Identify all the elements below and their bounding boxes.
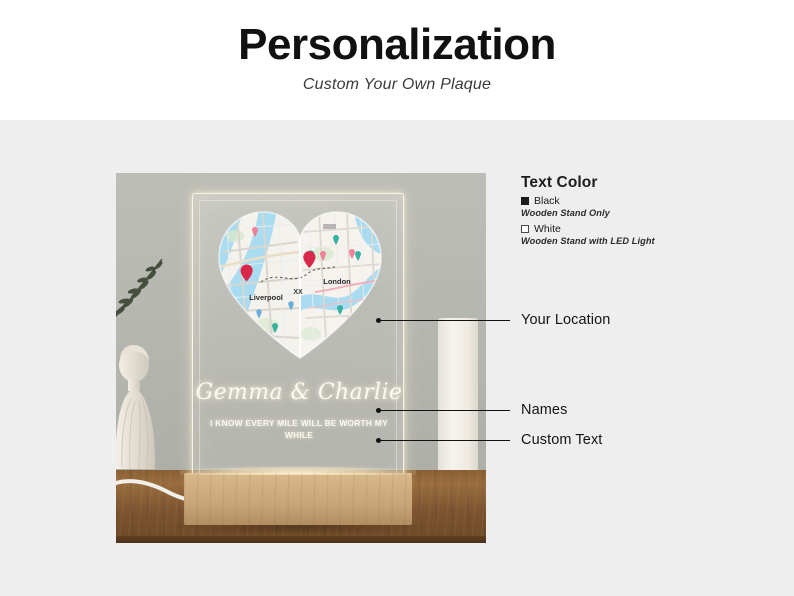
plaque-names-text: Gemma & Charlie [193,380,405,405]
option-note-white: Wooden Stand with LED Light [521,236,783,246]
plant-decoration [116,251,172,323]
svg-text:London: London [323,277,351,286]
option-label-black: Black [534,195,560,207]
checkbox-white-icon[interactable] [521,225,529,233]
text-color-options: Text Color Black Wooden Stand Only White… [521,174,783,251]
callout-label-names: Names [521,402,567,418]
callout-label-custom-text: Custom Text [521,432,602,448]
text-color-title: Text Color [521,174,783,192]
product-photo: Liverpool London XX Gemma & Ch [116,173,486,543]
leader-line-names [380,410,510,411]
svg-text:XX: XX [293,289,303,296]
acrylic-plaque: Liverpool London XX Gemma & Ch [192,193,404,480]
leader-line-location [380,320,510,321]
plaque-custom-text: I KNOW EVERY MILE WILL BE WORTH MY WHILE [205,418,393,442]
checkbox-black-icon[interactable] [521,197,529,205]
page-subtitle: Custom Your Own Plaque [303,76,491,94]
page-title: Personalization [238,22,556,68]
content-area: Liverpool London XX Gemma & Ch [0,120,794,596]
heart-map-engraving: Liverpool London XX [215,208,385,360]
option-note-black: Wooden Stand Only [521,208,783,218]
leader-line-custom-text [380,440,510,441]
bust-sculpture-decoration [116,341,162,471]
callout-label-your-location: Your Location [521,312,610,328]
page-header: Personalization Custom Your Own Plaque [0,0,794,120]
svg-text:Liverpool: Liverpool [249,293,283,302]
candle-decoration [438,318,478,470]
wooden-led-base [184,473,412,525]
option-row-white[interactable]: White [521,223,783,235]
option-row-black[interactable]: Black [521,195,783,207]
option-label-white: White [534,223,561,235]
